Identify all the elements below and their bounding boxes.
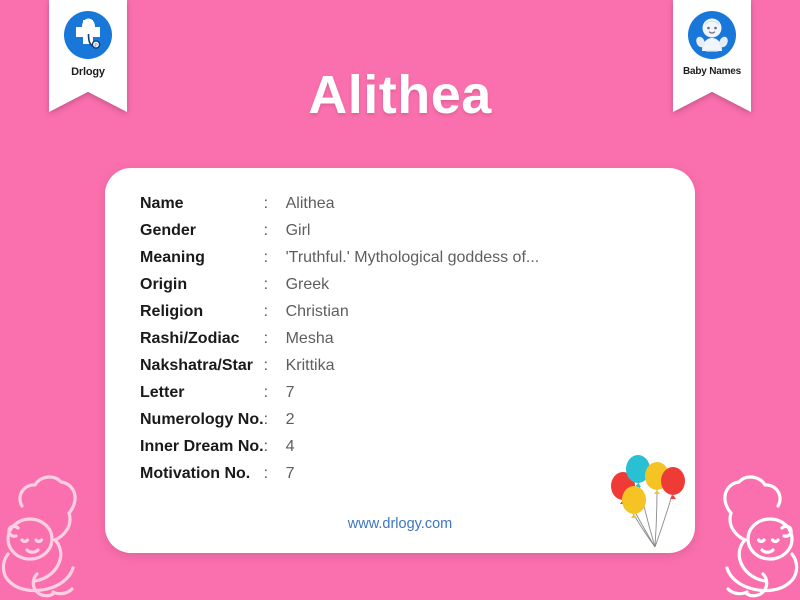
row-value: Alithea [286,190,540,217]
row-label: Rashi/Zodiac [140,325,264,352]
row-separator: : [264,217,286,244]
row-value: 7 [286,460,540,487]
row-separator: : [264,190,286,217]
row-label: Gender [140,217,264,244]
row-separator: : [264,325,286,352]
row-separator: : [264,271,286,298]
name-details-table: Name : Alithea Gender : Girl Meaning : '… [140,190,539,487]
row-value: Greek [286,271,540,298]
corner-illustration-left [0,468,106,600]
row-label: Numerology No. [140,406,264,433]
row-value: Girl [286,217,540,244]
row-separator: : [264,460,286,487]
row-value: 4 [286,433,540,460]
row-separator: : [264,244,286,271]
table-row: Motivation No. : 7 [140,460,539,487]
row-label: Religion [140,298,264,325]
table-row: Gender : Girl [140,217,539,244]
table-row: Letter : 7 [140,379,539,406]
table-row: Religion : Christian [140,298,539,325]
row-label: Name [140,190,264,217]
drlogy-logo-icon: P [62,9,114,61]
row-value: 7 [286,379,540,406]
row-label: Motivation No. [140,460,264,487]
page-title: Alithea [0,64,800,126]
table-row: Meaning : 'Truthful.' Mythological godde… [140,244,539,271]
mother-and-baby-icon [0,468,106,600]
row-value: Mesha [286,325,540,352]
row-separator: : [264,379,286,406]
corner-illustration-right [694,468,800,600]
row-separator: : [264,298,286,325]
table-body: Name : Alithea Gender : Girl Meaning : '… [140,190,539,487]
row-separator: : [264,433,286,460]
table-row: Numerology No. : 2 [140,406,539,433]
table-row: Rashi/Zodiac : Mesha [140,325,539,352]
row-separator: : [264,406,286,433]
balloon-bunch-icon [605,447,691,553]
mother-and-baby-icon-mirrored [694,468,800,600]
table-row: Nakshatra/Star : Krittika [140,352,539,379]
table-row: Inner Dream No. : 4 [140,433,539,460]
row-value: 'Truthful.' Mythological goddess of... [286,244,540,271]
baby-logo-icon [686,9,738,61]
table-row: Name : Alithea [140,190,539,217]
table-row: Origin : Greek [140,271,539,298]
row-separator: : [264,352,286,379]
row-label: Meaning [140,244,264,271]
row-value: Krittika [286,352,540,379]
row-label: Letter [140,379,264,406]
row-value: Christian [286,298,540,325]
row-label: Nakshatra/Star [140,352,264,379]
row-label: Inner Dream No. [140,433,264,460]
row-label: Origin [140,271,264,298]
row-value: 2 [286,406,540,433]
name-details-card: Name : Alithea Gender : Girl Meaning : '… [105,168,695,553]
